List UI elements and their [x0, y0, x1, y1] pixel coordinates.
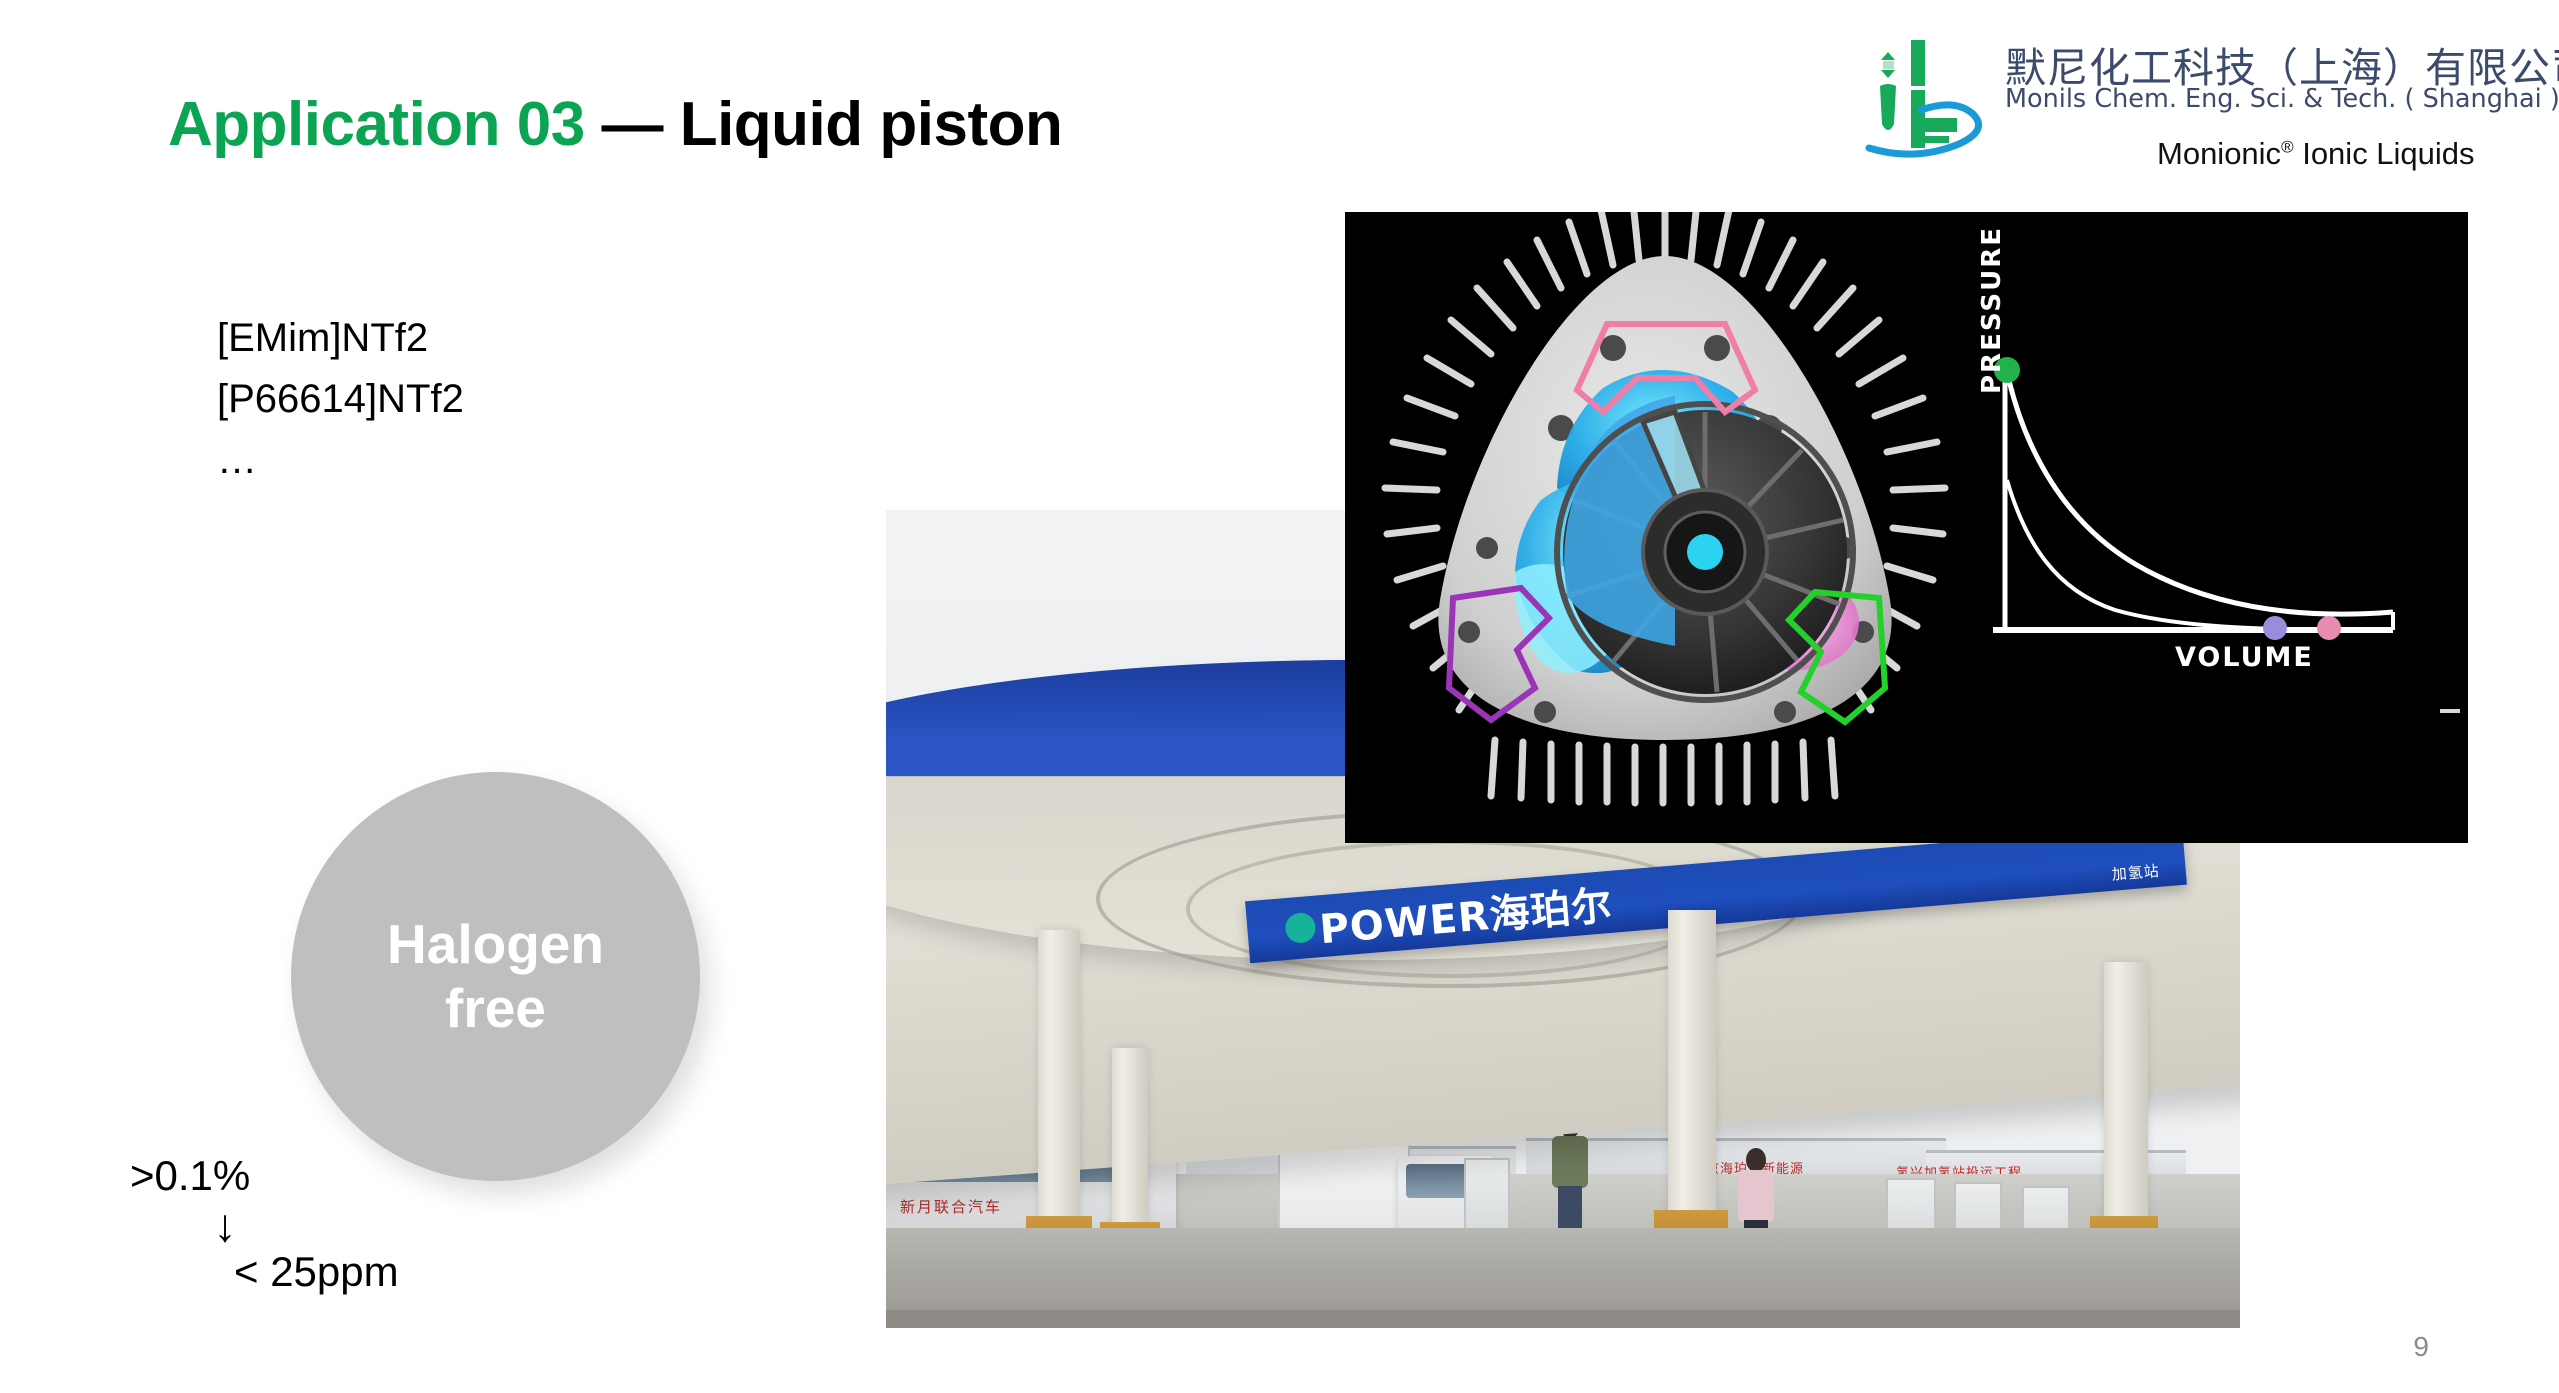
page-number: 9: [2413, 1331, 2429, 1363]
down-arrow-icon: ↓: [130, 1202, 320, 1249]
pv-curve-isothermal: [2007, 372, 2393, 614]
logo-company-name-en: Monils Chem. Eng. Sci. & Tech. ( Shangha…: [2005, 84, 2559, 114]
page-title: Application 03 — Liquid piston: [168, 92, 1062, 157]
logo-tagline-brand: Monionic: [2157, 136, 2281, 171]
photo-sign-logo-icon: [1284, 912, 1316, 944]
registered-mark-icon: ®: [2281, 138, 2294, 157]
photo-ground-shadow: [886, 1310, 2240, 1328]
logo-tagline-rest: Ionic Liquids: [2294, 136, 2475, 171]
shaft-center: [1687, 534, 1723, 570]
page-title-accent: Application 03: [168, 90, 585, 159]
ionic-liquid-list: [EMim]NTf2 [P66614]NTf2 …: [217, 318, 464, 480]
pv-marker-state-2: [2317, 616, 2341, 640]
logo-tagline: Monionic® Ionic Liquids: [2157, 136, 2475, 172]
purity-to-value: < 25ppm: [130, 1251, 399, 1294]
page-title-rest: — Liquid piston: [585, 90, 1063, 159]
photo-canopy-pillar: [2104, 962, 2148, 1248]
panel-progress-tick: [2440, 709, 2460, 713]
halogen-free-badge: Halogen free: [291, 772, 700, 1181]
pv-y-axis-label: PRESSURE: [1977, 226, 2007, 394]
photo-canopy-pillar: [1038, 930, 1080, 1248]
photo-person-torso: [1552, 1136, 1588, 1188]
ionic-liquid-item: [EMim]NTf2: [217, 318, 464, 358]
halogen-free-line1: Halogen: [387, 913, 604, 976]
monils-logo-mark-icon: [1855, 32, 1995, 160]
pv-marker-state-1: [2263, 616, 2287, 640]
purity-from-value: >0.1%: [130, 1155, 399, 1198]
photo-canopy-signage-subtext: 加氢站: [2111, 860, 2161, 885]
liquid-piston-rotary-compressor-animation: PRESSURE VOLUME: [1345, 212, 2468, 843]
halogen-free-line2: free: [445, 977, 546, 1040]
photo-person-torso: [1738, 1170, 1774, 1222]
photo-canopy-pillar: [1668, 910, 1716, 1248]
ionic-liquid-ellipsis: …: [217, 440, 464, 480]
pv-x-axis-label: VOLUME: [2175, 642, 2314, 673]
ionic-liquid-item: [P66614]NTf2: [217, 379, 464, 419]
photo-canopy-pillar: [1112, 1048, 1148, 1248]
photo-person-head: [1746, 1148, 1766, 1172]
rotary-compressor-diagram: [1345, 212, 1985, 840]
purity-spec: >0.1% ↓ < 25ppm: [130, 1155, 399, 1294]
company-logo: 默尼化工科技（上海）有限公司 Monils Chem. Eng. Sci. & …: [1855, 28, 2515, 168]
